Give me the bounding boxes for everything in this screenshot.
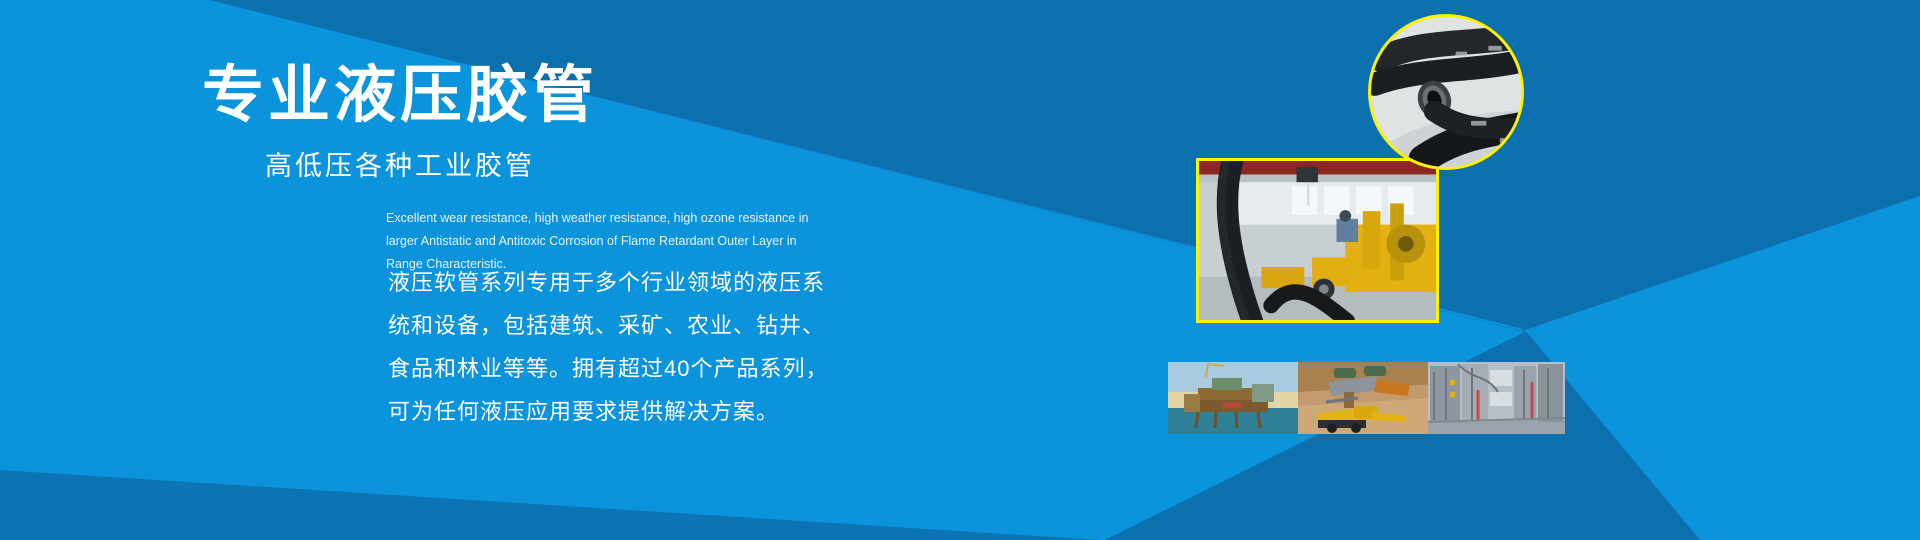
factory-photo-illustration (1199, 161, 1436, 320)
chinese-description-line: 统和设备，包括建筑、采矿、农业、钻井、 (388, 305, 808, 348)
chinese-description: 液压软管系列专用于多个行业领域的液压系 统和设备，包括建筑、采矿、农业、钻井、 … (388, 262, 808, 434)
chinese-description-line: 液压软管系列专用于多个行业领域的液压系 (388, 262, 808, 305)
hose-cross-section-photo (1368, 14, 1524, 170)
hose-closeup-illustration (1371, 17, 1521, 167)
mining-crusher-illustration (1298, 362, 1435, 434)
hydraulic-hose-banner: 专业液压胶管 高低压各种工业胶管 Excellent wear resistan… (0, 0, 1920, 540)
main-title: 专业液压胶管 (0, 62, 800, 130)
offshore-oil-platform-thumb (1168, 362, 1305, 434)
mining-crusher-thumb (1298, 362, 1435, 434)
offshore-platform-illustration (1168, 362, 1305, 434)
sub-title: 高低压各种工业胶管 (0, 150, 800, 182)
industrial-plant-thumb (1428, 362, 1565, 434)
chinese-description-line: 可为任何液压应用要求提供解决方案。 (388, 391, 808, 434)
hydraulic-hose-factory-photo (1196, 158, 1439, 323)
chinese-description-line: 食品和林业等等。拥有超过40个产品系列， (388, 348, 808, 391)
industrial-plant-illustration (1428, 362, 1565, 434)
text-column: 专业液压胶管 高低压各种工业胶管 Excellent wear resistan… (0, 0, 880, 540)
